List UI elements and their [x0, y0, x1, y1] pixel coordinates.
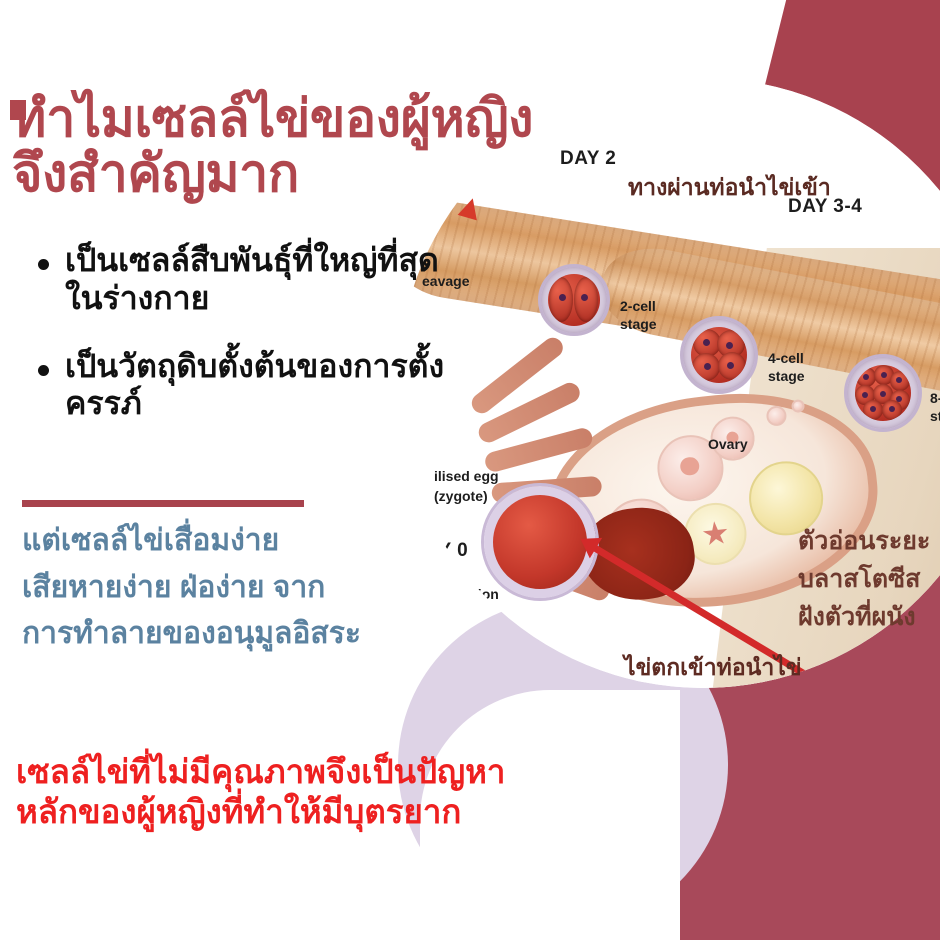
nucleus	[581, 294, 588, 301]
title-line-2: จึงสำคัญมาก	[12, 147, 712, 202]
embryo-8-cell	[844, 354, 922, 432]
blastocyst-line-1: ตัวอ่อนระยะ	[798, 522, 930, 560]
blastocyst-annotation: ตัวอ่อนระยะ บลาสโตซีส ฝังตัวที่ผนัง	[798, 522, 930, 636]
label-zygote-line2: (zygote)	[434, 488, 488, 504]
warning-line-1: แต่เซลล์ไข่เสื่อมง่าย	[22, 518, 542, 565]
label-8-cell-stage: stage	[930, 408, 940, 424]
nucleus	[862, 392, 868, 398]
bullet-dot-icon	[38, 259, 49, 270]
bullet-list: เป็นเซลล์สืบพันธุ์ที่ใหญ่ที่สุดในร่างกาย…	[30, 242, 470, 453]
ovulation-annotation: ไข่ตกเข้าท่อนำไข่	[624, 650, 802, 686]
bullet-text: เป็นเซลล์สืบพันธุ์ที่ใหญ่ที่สุดในร่างกาย	[65, 242, 470, 318]
tube-passage-annotation: ทางผ่านท่อนำไข่เข้า	[628, 170, 831, 206]
nucleus	[726, 342, 733, 349]
poster-root: DAY 2 DAY 3-4 AY 0 2-cell stage 4-cell s…	[0, 0, 940, 940]
label-ovary: Ovary	[708, 436, 748, 452]
label-4-cell: 4-cell	[768, 350, 804, 366]
label-4-cell-stage: stage	[768, 368, 805, 384]
bullet-dot-icon	[38, 365, 49, 376]
embryo-2-cell	[538, 264, 610, 336]
conclusion-line-1: เซลล์ไข่ที่ไม่มีคุณภาพจึงเป็นปัญหา	[16, 752, 636, 792]
nucleus	[727, 362, 734, 369]
embryo-core	[855, 365, 911, 421]
nucleus	[881, 372, 887, 378]
title-line-1: ทำไมเซลล์ไข่ของผู้หญิง	[12, 90, 533, 148]
blastocyst-line-3: ฝังตัวที่ผนัง	[798, 598, 930, 636]
conclusion-line-2: หลักของผู้หญิงที่ทำให้มีบุตรยาก	[16, 792, 636, 832]
section-divider	[22, 500, 304, 507]
embryo-4-cell	[680, 316, 758, 394]
label-zygote-line1: ilised egg	[434, 468, 499, 484]
blastocyst-line-2: บลาสโตซีส	[798, 560, 930, 598]
embryo-core	[548, 274, 599, 325]
follicle	[765, 405, 787, 427]
warning-line-3: การทำลายของอนุมูลอิสระ	[22, 611, 542, 658]
label-8-cell: 8-cell	[930, 390, 940, 406]
nucleus	[880, 391, 886, 397]
list-item: เป็นวัตถุดิบตั้งต้นของการตั้งครรภ์	[30, 348, 470, 424]
warning-line-2: เสียหายง่าย ฝ่อง่าย จาก	[22, 565, 542, 612]
nucleus	[863, 374, 869, 380]
bullet-text: เป็นวัตถุดิบตั้งต้นของการตั้งครรภ์	[65, 348, 470, 424]
label-ovulation: Ovulation	[510, 670, 575, 686]
oocyte-dot	[679, 456, 699, 476]
conclusion-text-block: เซลล์ไข่ที่ไม่มีคุณภาพจึงเป็นปัญหา หลักข…	[16, 752, 636, 831]
label-2-cell: 2-cell	[620, 298, 656, 314]
title-accent-mark	[10, 100, 26, 120]
embryo-core	[691, 327, 747, 383]
follicle	[791, 399, 805, 413]
warning-text-block: แต่เซลล์ไข่เสื่อมง่าย เสียหายง่าย ฝ่อง่า…	[22, 518, 542, 658]
page-title: ทำไมเซลล์ไข่ของผู้หญิง จึงสำคัญมาก	[12, 92, 712, 202]
nucleus	[559, 294, 566, 301]
label-2-cell-stage: stage	[620, 316, 657, 332]
list-item: เป็นเซลล์สืบพันธุ์ที่ใหญ่ที่สุดในร่างกาย	[30, 242, 470, 318]
